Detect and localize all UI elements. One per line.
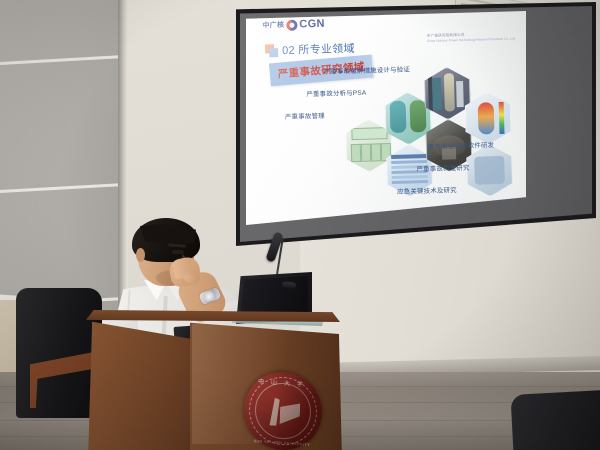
- ear: [136, 248, 145, 262]
- cgn-logo-english: CGN: [299, 18, 325, 31]
- sun-yat-sen-university-emblem: 中山大学 SUN YAT-SEN UNIVERSITY: [243, 369, 324, 450]
- corporate-name: 中广核研究院有限公司 China Nuclear Power Technolog…: [427, 32, 515, 43]
- slide-label-right-1: 氢气安全分析软件研发: [428, 140, 495, 151]
- conference-room-photo: 中广核 CGN 中广核研究院有限公司 China Nuclear Power T…: [0, 0, 600, 450]
- cgn-logo-chinese: 中广核: [262, 20, 284, 31]
- slide-label-right-2: 严重事故机理研究: [416, 163, 469, 173]
- eye: [172, 250, 184, 254]
- chair-right: [510, 389, 600, 450]
- podium-left-face: [88, 316, 192, 450]
- cgn-swirl-icon: [286, 19, 297, 30]
- podium: 中山大学 中山大学 SUN YAT-SEN UNIVERSITY: [88, 310, 338, 450]
- slide-label-left-2: 严重事故分析与PSA: [306, 88, 366, 99]
- slide-label-left-1: 严重事故缓解措施设计与验证: [324, 64, 411, 75]
- slide-label-right-3: 应急关键技术及研究: [397, 185, 457, 196]
- slide-section-heading: 02 所专业领域: [265, 40, 355, 58]
- cgn-logo: 中广核 CGN: [262, 18, 325, 32]
- presentation-slide[interactable]: 中广核 CGN 中广核研究院有限公司 China Nuclear Power T…: [246, 11, 526, 225]
- slide-label-left-3: 严重事故管理: [285, 111, 325, 121]
- double-square-icon: [265, 44, 278, 57]
- hex-reactor-photo: [466, 144, 513, 197]
- podium-top: [86, 310, 340, 322]
- section-title: 02 所专业领域: [282, 40, 355, 58]
